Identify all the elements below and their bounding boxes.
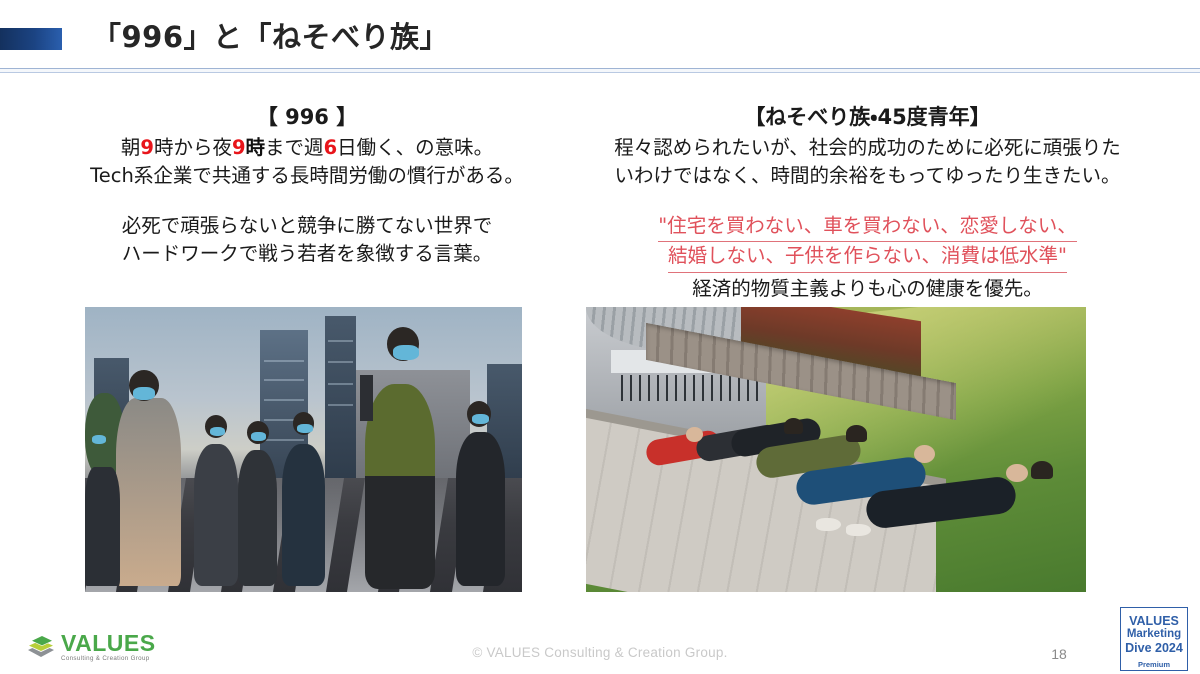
photo-right-head-6 (1031, 461, 1053, 479)
marketing-dive-badge: VALUES Marketing Dive 2024 Premium (1120, 607, 1188, 671)
photo-left-mask-e (92, 435, 107, 444)
txt-hour-9-a: 9 (140, 136, 154, 159)
photo-left-pedestrian-c (282, 444, 326, 587)
txt-days-6: 6 (324, 136, 338, 159)
txt-b: 時から夜 (154, 136, 232, 159)
photo-left-mask-d (472, 414, 489, 424)
left-subtext-line-1: 必死で頑張らないと競争に勝てない世界で (42, 212, 572, 240)
badge-line-3: Dive 2024 (1125, 641, 1183, 655)
page-title: 「996」と「ねそべり族」 (92, 14, 449, 56)
left-paragraph-gap (42, 190, 572, 212)
left-subtext: 必死で頑張らないと競争に勝てない世界で ハードワークで戦う若者を象徴する言葉。 (42, 212, 572, 268)
txt-hour-9-b: 9 (232, 136, 246, 159)
copyright-text: © VALUES Consulting & Creation Group. (0, 645, 1200, 660)
header-divider (0, 68, 1200, 73)
photo-left-mask-b (251, 432, 266, 441)
header-accent-bar (0, 28, 62, 50)
right-quote-line-1: "住宅を買わない、車を買わない、恋愛しない、 (658, 212, 1076, 242)
slide-footer: VALUES Consulting & Creation Group © VAL… (0, 614, 1200, 674)
left-column: 【 996 】 朝9時から夜9時まで週6日働く、の意味。 Tech系企業で共通す… (42, 104, 572, 268)
photo-left-pedestrian-a (194, 444, 238, 587)
photo-right-head-3 (846, 425, 867, 442)
right-column: 【ねそべり族・45度青年】 程々認められたいが、社会的成功のために必死に頑張りた… (575, 104, 1160, 303)
photo-commuters-crosswalk (85, 307, 522, 592)
badge-line-4: Premium (1135, 661, 1173, 669)
photo-right-head-2 (784, 418, 803, 434)
left-definition-line-1: 朝9時から夜9時まで週6日働く、の意味。 (42, 134, 572, 162)
txt-a: 朝 (121, 136, 141, 159)
photo-left-mask-woman (133, 387, 155, 400)
photo-right-railing (621, 375, 761, 401)
photo-left-mask-green (393, 345, 419, 359)
photo-left-mask-c (297, 424, 313, 433)
right-definition: 程々認められたいが、社会的成功のために必死に頑張りた いわけではなく、時間的余裕… (575, 134, 1160, 190)
txt-c: まで週 (265, 136, 324, 159)
photo-left-pedestrian-e (85, 467, 120, 587)
txt-d: 日働く、の意味。 (337, 136, 493, 159)
right-quote-block: "住宅を買わない、車を買わない、恋愛しない、 結婚しない、子供を作らない、消費は… (575, 212, 1160, 303)
photo-right-head-5 (1006, 464, 1028, 482)
slide-canvas: 「996」と「ねそべり族」 【 996 】 朝9時から夜9時まで週6日働く、の意… (0, 0, 1200, 674)
left-subtext-line-2: ハードワークで戦う若者を象徴する言葉。 (42, 240, 572, 268)
right-definition-line-1: 程々認められたいが、社会的成功のために必死に頑張りた (575, 134, 1160, 162)
page-number: 18 (1042, 646, 1076, 662)
photo-left-tower-2 (325, 316, 356, 493)
photo-right-shoe-1 (816, 518, 841, 531)
badge-line-2: Marketing (1127, 628, 1181, 641)
photo-right-head-4 (914, 445, 935, 463)
photo-left-backpack-strap (360, 375, 373, 421)
photo-left-pedestrian-green (365, 384, 435, 589)
photo-right-head-1 (686, 427, 703, 442)
left-heading: 【 996 】 (42, 104, 572, 132)
right-quote-tail: 経済的物質主義よりも心の健康を優先。 (575, 275, 1160, 303)
right-definition-line-2: いわけではなく、時間的余裕をもってゆったり生きたい。 (575, 162, 1160, 190)
left-definition: 朝9時から夜9時まで週6日働く、の意味。 Tech系企業で共通する長時間労働の慣… (42, 134, 572, 190)
slide-header: 「996」と「ねそべり族」 (0, 0, 1200, 70)
photo-left-pedestrian-d (456, 432, 504, 586)
photo-left-pedestrian-b (238, 450, 277, 587)
right-quote-line-2: 結婚しない、子供を作らない、消費は低水準" (668, 242, 1067, 272)
photo-people-lying-grass (586, 307, 1086, 592)
photo-left-pedestrian-woman (116, 398, 182, 586)
txt-ji: 時 (246, 136, 266, 159)
left-definition-line-2: Tech系企業で共通する長時間労働の慣行がある。 (42, 162, 572, 190)
right-heading: 【ねそべり族・45度青年】 (575, 104, 1160, 132)
badge-line-1: VALUES (1129, 614, 1179, 628)
photo-left-mask-a (210, 427, 226, 436)
right-paragraph-gap (575, 190, 1160, 212)
